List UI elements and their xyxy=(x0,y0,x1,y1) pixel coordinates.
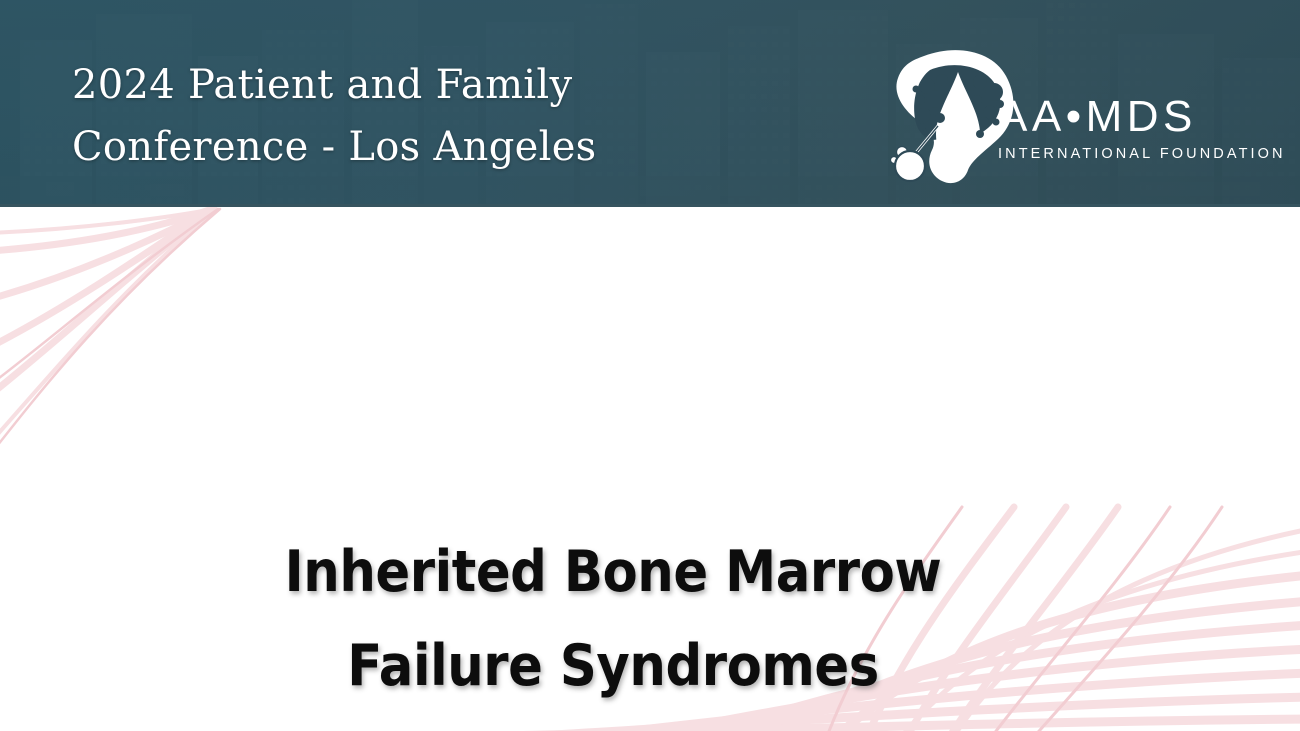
title-block: Inherited Bone Marrow Failure Syndromes … xyxy=(0,525,1226,731)
slide-header: 2024 Patient and Family Conference - Los… xyxy=(0,0,1300,207)
presentation-title: Inherited Bone Marrow Failure Syndromes xyxy=(61,525,1164,713)
conference-title: 2024 Patient and Family Conference - Los… xyxy=(72,54,832,178)
aamds-logo: AA•MDS INTERNATIONAL FOUNDATION xyxy=(880,42,1225,187)
aamds-tagline: INTERNATIONAL FOUNDATION xyxy=(998,143,1228,165)
slide-body: Inherited Bone Marrow Failure Syndromes … xyxy=(0,207,1300,731)
aamds-logo-text: AA•MDS INTERNATIONAL FOUNDATION xyxy=(998,94,1228,165)
aamds-wordmark: AA•MDS xyxy=(998,94,1228,140)
title-slide: 2024 Patient and Family Conference - Los… xyxy=(0,0,1300,731)
